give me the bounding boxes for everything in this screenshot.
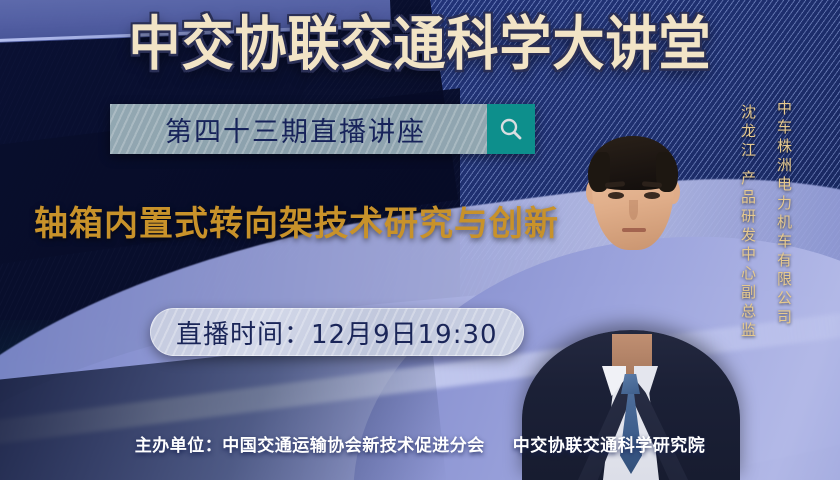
portrait-mouth [622, 228, 646, 232]
episode-label: 第四十三期直播讲座 [110, 104, 487, 154]
live-time-badge: 直播时间：12月9日19:30 [150, 308, 524, 356]
live-time-text: 直播时间：12月9日19:30 [176, 314, 498, 351]
footer-organizers: 主办单位：中国交通运输协会新技术促进分会中交协联交通科学研究院 [0, 431, 840, 456]
lecture-topic: 轴箱内置式转向架技术研究与创新 [34, 196, 559, 245]
speaker-company: 中车株洲电力机车有限公司 [776, 100, 793, 328]
portrait-eye-left [608, 192, 624, 199]
portrait-eye-right [644, 192, 660, 199]
episode-search-bar[interactable]: 第四十三期直播讲座 [110, 104, 535, 154]
search-icon [498, 116, 524, 142]
speaker-name-role: 沈龙江 产品研发中心副总监 [740, 104, 757, 341]
portrait-nose [629, 200, 638, 220]
footer-organizer-primary: 主办单位：中国交通运输协会新技术促进分会 [135, 436, 485, 456]
footer-organizer-secondary: 中交协联交通科学研究院 [513, 436, 706, 456]
search-button[interactable] [487, 104, 535, 154]
page-title: 中交协联交通科学大讲堂 [0, 13, 840, 78]
live-lecture-poster: 中交协联交通科学大讲堂 第四十三期直播讲座 轴箱内置式转向架技术研究与创新 直播… [0, 0, 840, 480]
speaker-portrait [520, 118, 740, 480]
